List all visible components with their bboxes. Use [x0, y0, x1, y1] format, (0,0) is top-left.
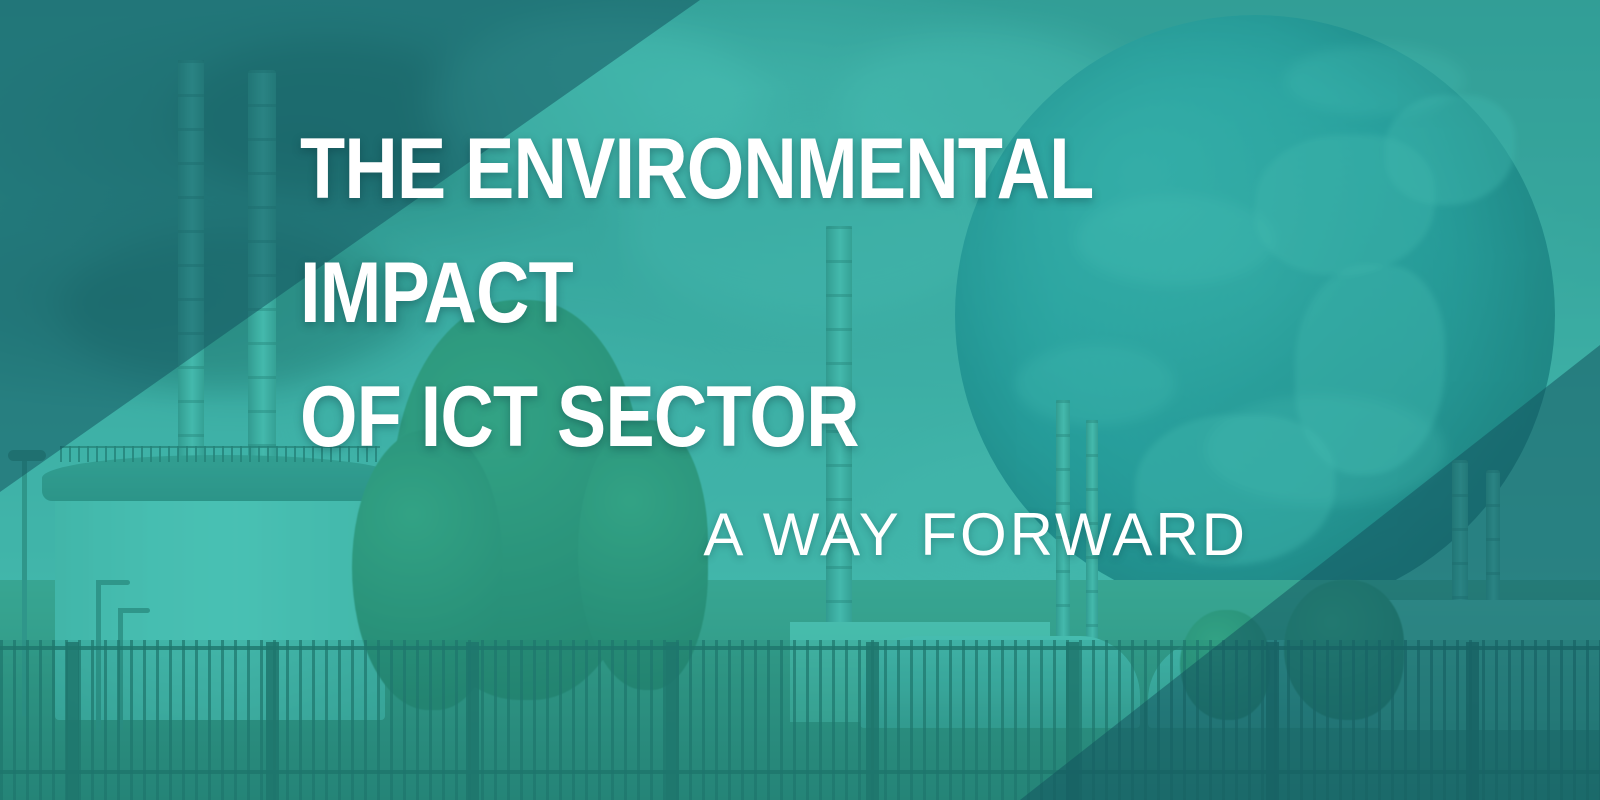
title-line-1: THE ENVIRONMENTAL — [300, 128, 1093, 211]
environmental-impact-banner: THE ENVIRONMENTAL IMPACT OF ICT SECTOR A… — [0, 0, 1600, 800]
title-line-2: IMPACT — [300, 252, 573, 335]
banner-copy: THE ENVIRONMENTAL IMPACT OF ICT SECTOR A… — [0, 0, 1600, 800]
title-line-3: OF ICT SECTOR — [300, 376, 859, 459]
banner-subtitle: A WAY FORWARD — [703, 500, 1248, 569]
